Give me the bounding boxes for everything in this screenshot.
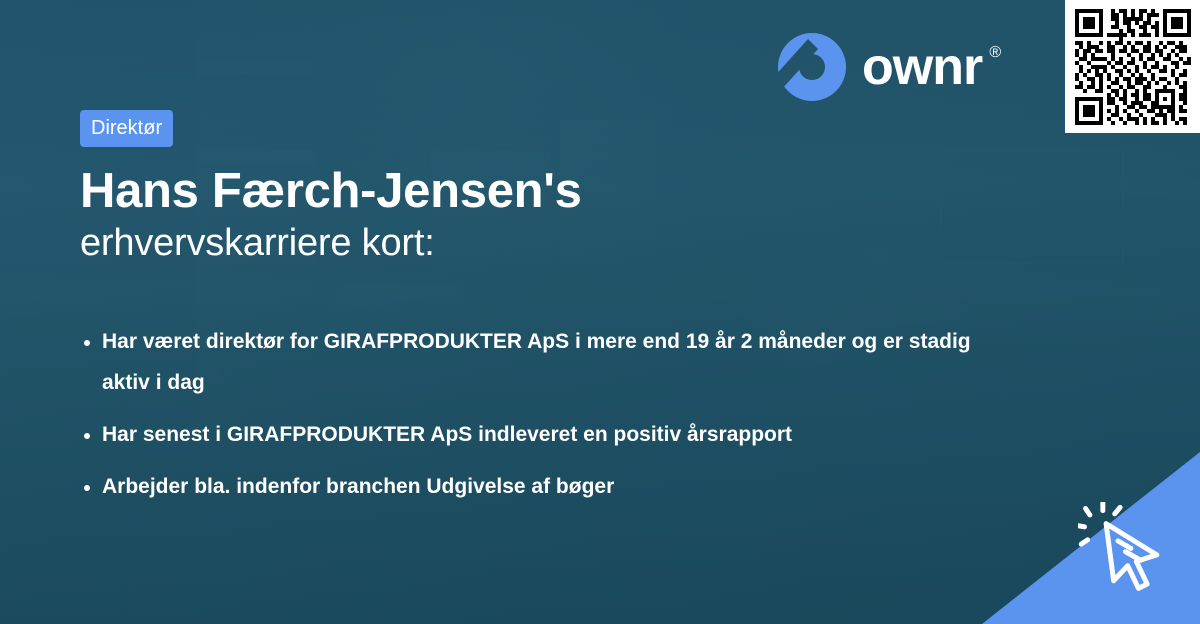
registered-trademark-icon: ® — [989, 45, 1000, 61]
list-item: Har senest i GIRAFPRODUKTER ApS indlever… — [80, 415, 980, 456]
ownr-circle-swoosh-icon — [778, 33, 846, 101]
card-content: Direktør Hans Færch-Jensen's erhvervskar… — [80, 110, 1200, 508]
career-facts-list: Har været direktør for GIRAFPRODUKTER Ap… — [80, 322, 980, 508]
list-item-text: Har været direktør for GIRAFPRODUKTER Ap… — [102, 330, 971, 394]
list-item-text: Arbejder bla. indenfor branchen Udgivels… — [102, 475, 614, 498]
qr-code-matrix — [1075, 9, 1191, 125]
career-card: ownr® Direktør Hans Færch-Jensen's erhve… — [0, 0, 1200, 624]
list-item: Har været direktør for GIRAFPRODUKTER Ap… — [80, 322, 980, 404]
bullet-dot-icon — [84, 433, 90, 439]
ownr-logo[interactable]: ownr® — [778, 33, 1000, 101]
ownr-wordmark: ownr® — [862, 41, 1000, 93]
bullet-dot-icon — [84, 340, 90, 346]
role-badge: Direktør — [80, 110, 173, 147]
click-cursor-icon — [1078, 502, 1186, 610]
page-subtitle: erhvervskarriere kort: — [80, 223, 1200, 265]
bullet-dot-icon — [84, 485, 90, 491]
list-item-text: Har senest i GIRAFPRODUKTER ApS indlever… — [102, 423, 792, 446]
list-item: Arbejder bla. indenfor branchen Udgivels… — [80, 467, 980, 508]
page-title: Hans Færch-Jensen's — [80, 166, 1200, 217]
ownr-name: ownr — [862, 38, 982, 96]
